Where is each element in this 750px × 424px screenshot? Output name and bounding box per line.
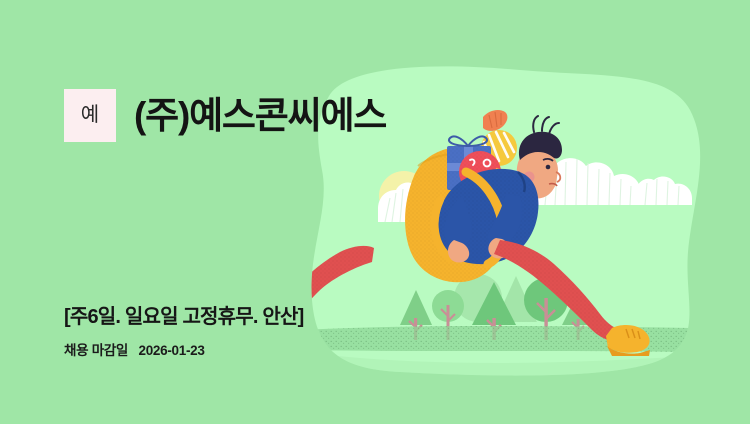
job-deadline: 채용 마감일 2026-01-23	[64, 343, 205, 359]
company-header: 예 (주)예스콘씨에스	[64, 72, 386, 159]
job-summary: [주6일. 일요일 고정휴무. 안산]	[64, 306, 303, 329]
deadline-date: 2026-01-23	[139, 343, 205, 358]
company-logo-letter: 예	[81, 105, 99, 125]
company-logo: 예	[64, 89, 116, 142]
deadline-label: 채용 마감일	[64, 343, 128, 358]
job-posting-banner[interactable]: 예 (주)예스콘씨에스 [주6일. 일요일 고정휴무. 안산] 채용 마감일 2…	[0, 0, 750, 424]
company-name: (주)예스콘씨에스	[134, 97, 386, 134]
delivery-runner-illustration	[0, 0, 750, 424]
